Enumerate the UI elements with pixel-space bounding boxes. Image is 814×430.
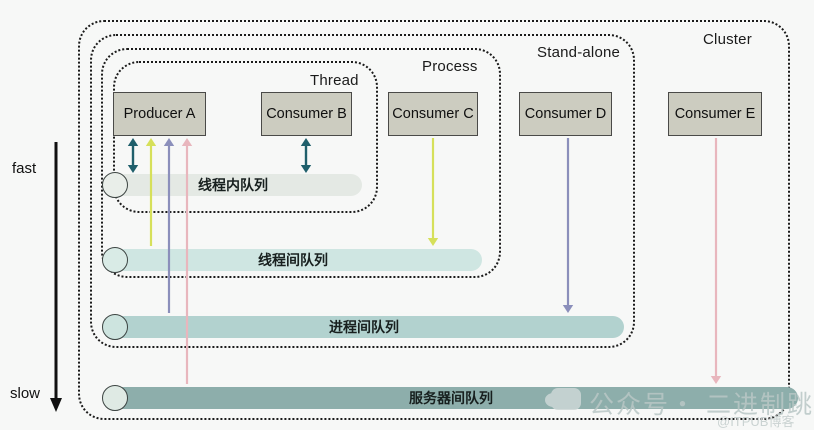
diagram-canvas: Thread Process Stand-alone Cluster 线程内队列… (0, 0, 814, 429)
queue-knob-inter-server (102, 385, 128, 411)
queue-label-inter-thread: 线程间队列 (258, 250, 328, 270)
axis-label-fast: fast (12, 160, 36, 177)
queue-knob-intra-thread (102, 172, 128, 198)
queue-label-inter-process: 进程间队列 (329, 317, 399, 337)
queue-label-intra-thread: 线程内队列 (198, 175, 268, 195)
axis-label-slow: slow (10, 385, 40, 402)
speed-axis-arrow (0, 0, 814, 429)
wechat-badge-icon (551, 388, 581, 410)
queue-knob-inter-thread (102, 247, 128, 273)
queue-knob-inter-process (102, 314, 128, 340)
queue-label-inter-server: 服务器间队列 (409, 388, 493, 408)
